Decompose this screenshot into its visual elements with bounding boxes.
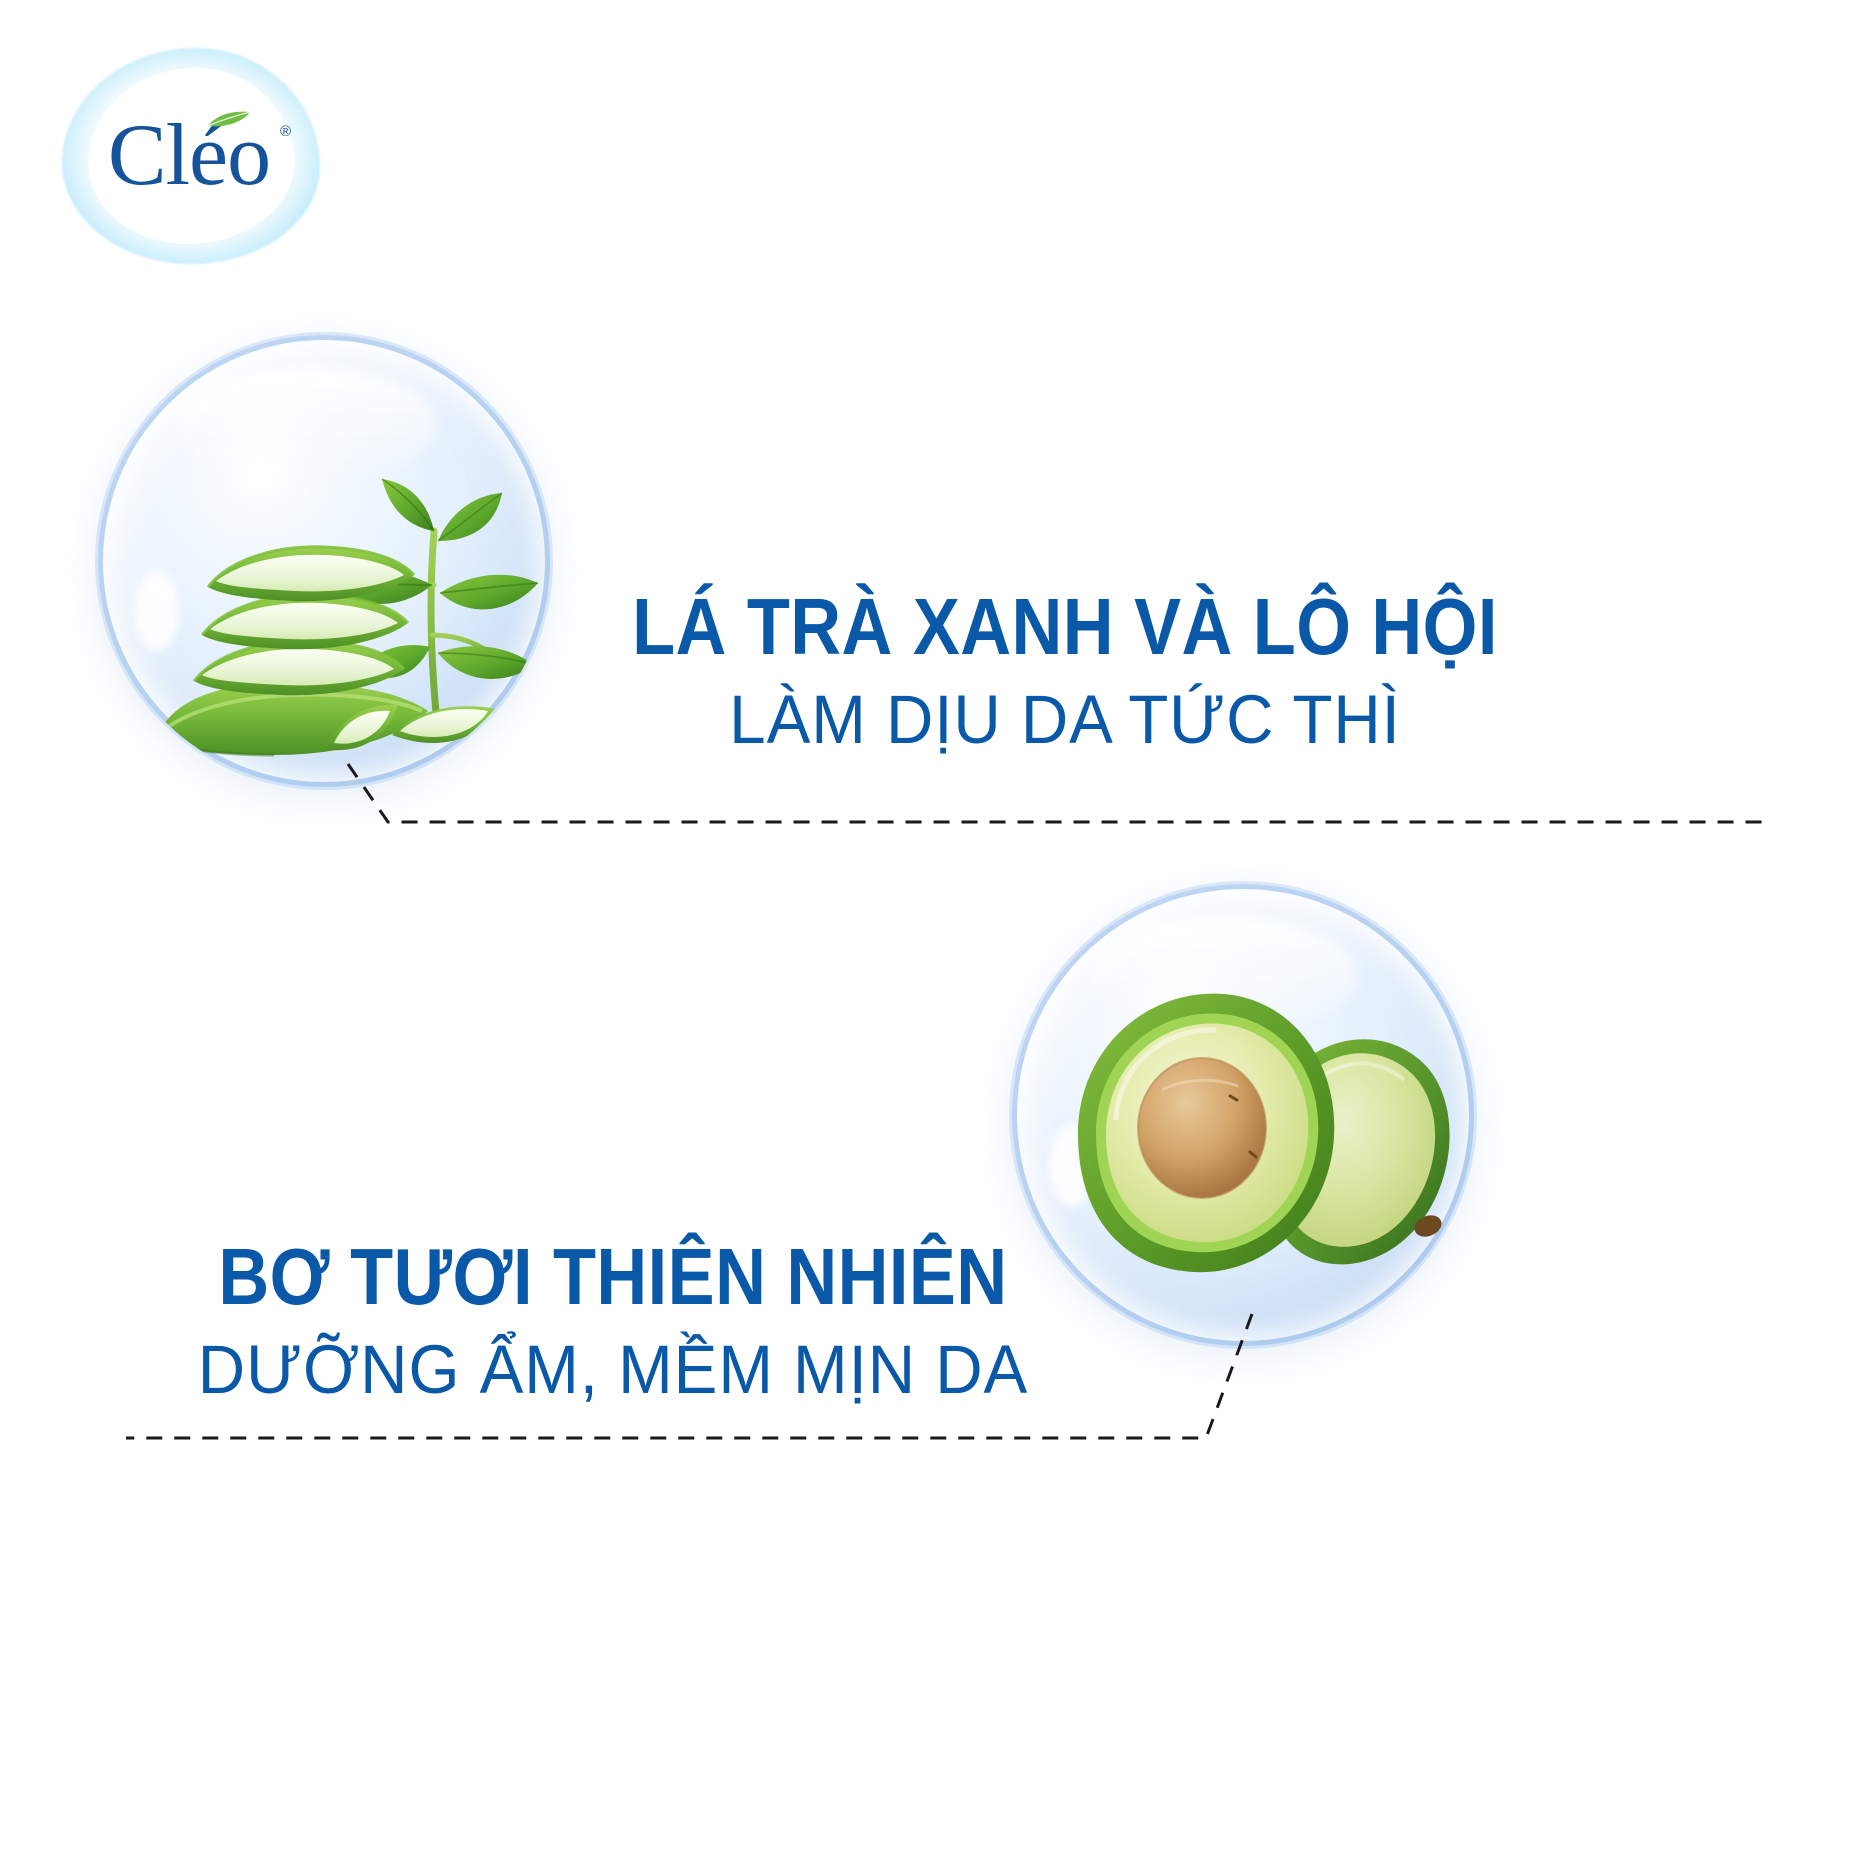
registered-trademark-icon: ® [280,124,290,139]
feature-text-avocado: BƠ TƯƠI THIÊN NHIÊN DƯỠNG ẨM, MỀM MỊN DA [118,1238,1108,1407]
dashed-connector-line-1 [330,760,1770,840]
poster-canvas: Cléo ® [0,0,1875,1875]
feature-headline: BƠ TƯƠI THIÊN NHIÊN [177,1238,1048,1316]
feature-subline: DƯỠNG ẨM, MỀM MỊN DA [143,1334,1084,1406]
leaf-icon [207,110,251,128]
feature-headline: LÁ TRÀ XANH VÀ LÔ HỘI [621,588,1510,666]
ingredient-bubble-aloe-green-tea [98,335,550,787]
feature-text-green-tea-aloe: LÁ TRÀ XANH VÀ LÔ HỘI LÀM DỊU DA TỨC THÌ [560,588,1570,757]
aloe-vera-and-green-tea-icon [98,335,550,787]
feature-subline: LÀM DỊU DA TỨC THÌ [585,684,1545,756]
logo-text-container: Cléo ® [62,48,320,264]
brand-logo[interactable]: Cléo ® [62,48,320,264]
logo-wordmark: Cléo ® [108,112,274,200]
